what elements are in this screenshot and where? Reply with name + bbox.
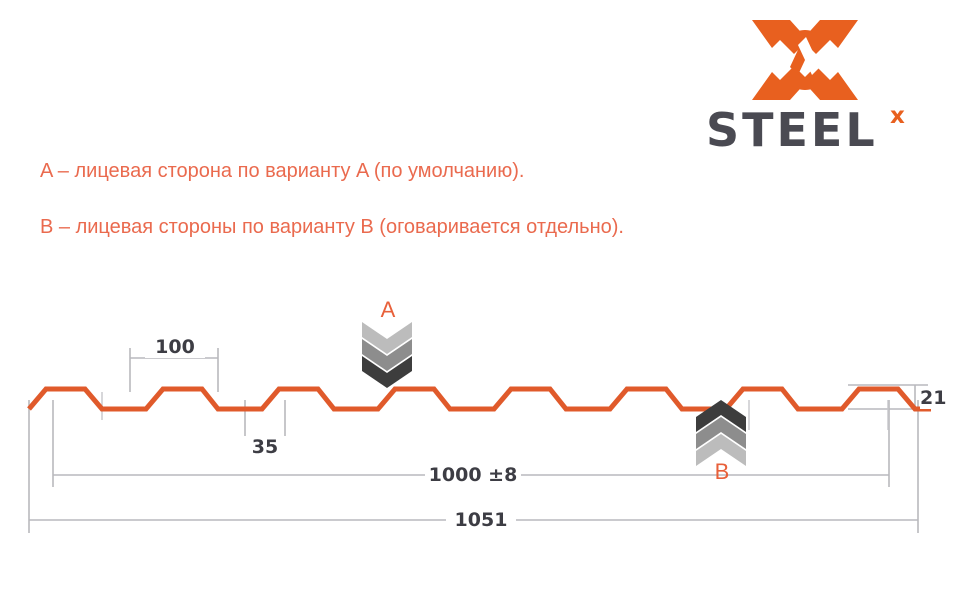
dimension-1051-value: 1051 bbox=[446, 509, 516, 531]
dimension-100-value: 100 bbox=[145, 336, 205, 358]
marker-a-chevron-icon bbox=[362, 322, 412, 388]
corrugated-profile-line bbox=[29, 389, 931, 409]
dimension-1000-value: 1000 ±8 bbox=[425, 464, 521, 486]
marker-a-label: A bbox=[373, 297, 403, 323]
profile-technical-drawing bbox=[0, 0, 970, 593]
dimension-21-value: 21 bbox=[920, 387, 954, 409]
marker-b-label: B bbox=[707, 459, 737, 485]
dimension-35-value: 35 bbox=[243, 436, 287, 458]
